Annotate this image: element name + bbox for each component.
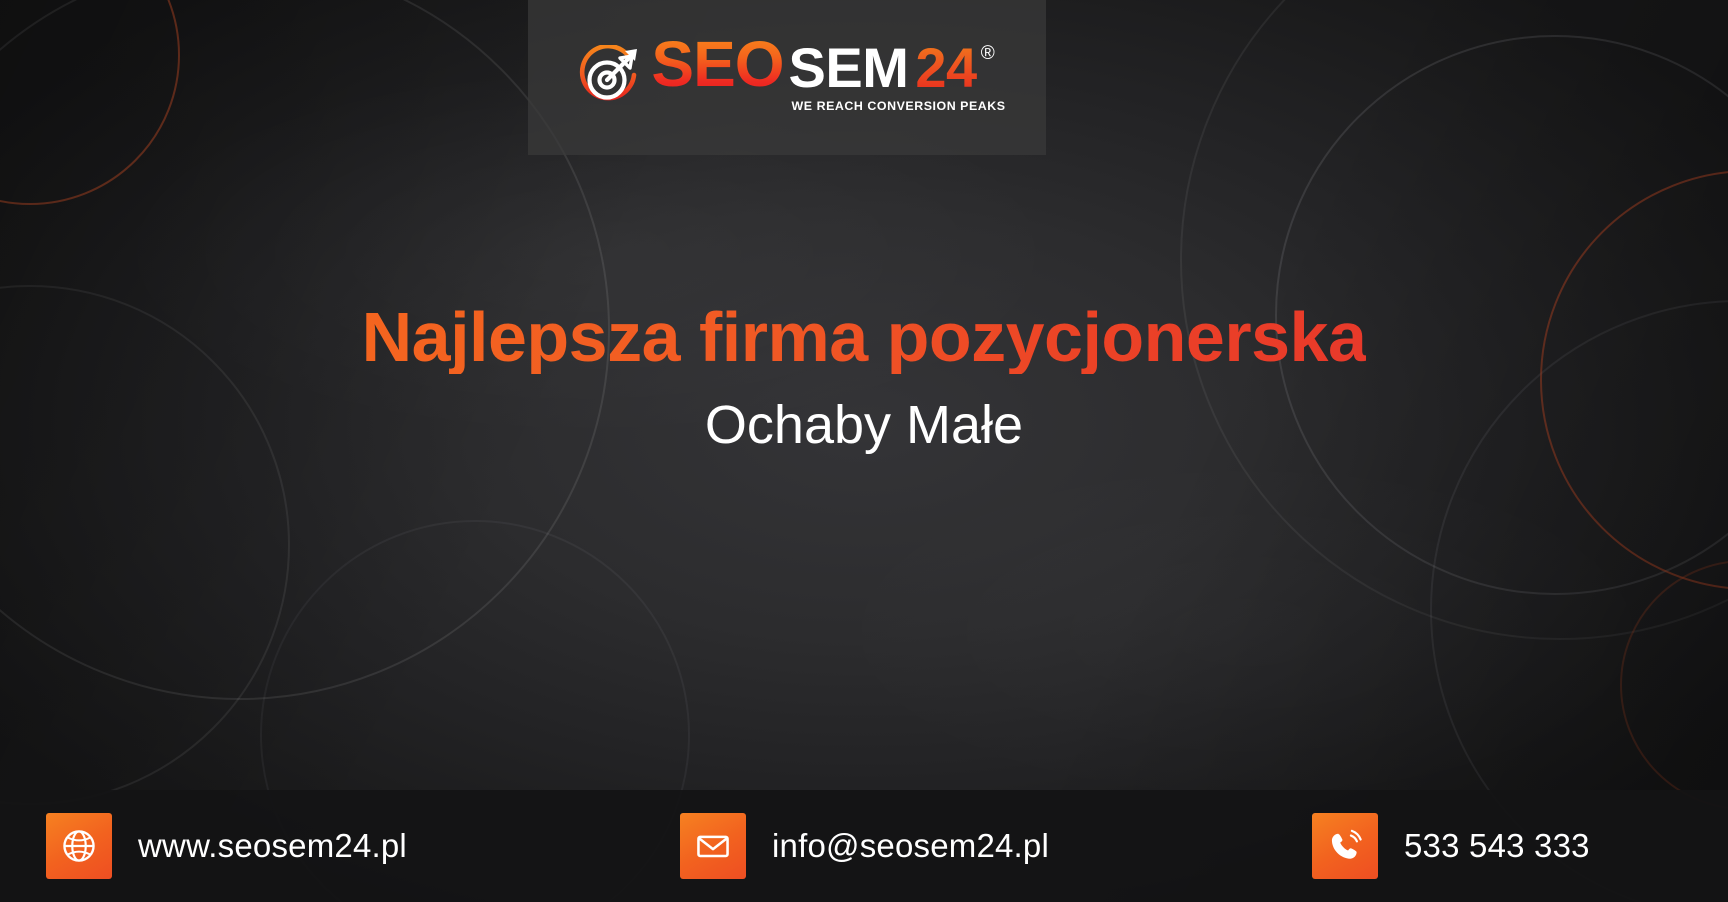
logo-number-text: 24 [915,40,976,96]
logo-tagline: WE REACH CONVERSION PEAKS [792,99,1006,113]
logo-bar: SEO SEM 24 ® WE REACH CONVERSION PEAKS [528,0,1046,155]
logo-wordmark: SEO SEM 24 ® WE REACH CONVERSION PEAKS [651,34,1005,113]
logo-seo-text: SEO [651,34,783,95]
target-dart-icon [576,45,642,111]
page-subtitle: Ochaby Małe [705,396,1023,454]
website-label: www.seosem24.pl [138,827,407,865]
contact-footer: www.seosem24.pl info@seosem24.pl 533 543… [0,790,1728,902]
email-label: info@seosem24.pl [772,827,1049,865]
phone-icon [1312,813,1378,879]
logo-sem-text: SEM [789,40,909,96]
globe-icon [46,813,112,879]
phone-label: 533 543 333 [1404,827,1590,865]
page-title: Najlepsza firma pozycjonerska [362,300,1367,374]
contact-item-website[interactable]: www.seosem24.pl [46,813,407,879]
envelope-icon [680,813,746,879]
brand-logo[interactable]: SEO SEM 24 ® WE REACH CONVERSION PEAKS [576,34,1005,113]
hero-section: Najlepsza firma pozycjonerska Ochaby Mał… [0,300,1728,455]
contact-item-email[interactable]: info@seosem24.pl [680,813,1049,879]
registered-mark-icon: ® [981,44,995,63]
contact-item-phone[interactable]: 533 543 333 [1312,813,1590,879]
